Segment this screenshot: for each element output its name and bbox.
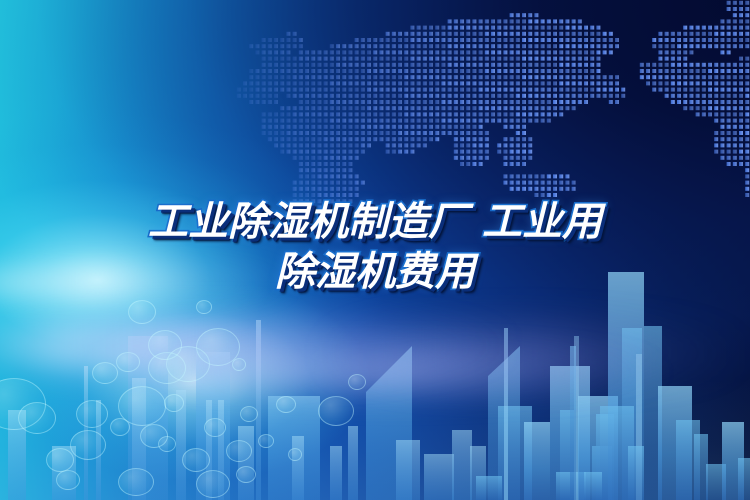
bubble (226, 440, 252, 462)
bubble (46, 448, 74, 472)
bubble (276, 396, 296, 413)
bubble-cluster (0, 0, 750, 500)
bubble (232, 358, 246, 371)
bubble (158, 436, 176, 452)
bubble (348, 374, 366, 390)
bubble (18, 402, 56, 434)
bubble (110, 418, 130, 436)
bubble (148, 352, 186, 384)
bubble (258, 434, 274, 448)
bubble (182, 448, 210, 472)
bubble (288, 448, 302, 461)
bubble (118, 468, 154, 496)
bubble (92, 362, 118, 384)
bubble (56, 470, 80, 490)
bubble (196, 300, 212, 314)
bubble (76, 400, 108, 428)
bubble (204, 418, 226, 437)
bubble (236, 466, 256, 483)
bubble (116, 352, 140, 372)
bubble (164, 394, 184, 412)
promo-banner: 工业除湿机制造厂工业用 除湿机费用 (0, 0, 750, 500)
bubble (240, 406, 258, 422)
bubble (70, 430, 106, 460)
bubble (318, 396, 354, 426)
bubble (196, 470, 230, 498)
bubble (128, 300, 156, 324)
